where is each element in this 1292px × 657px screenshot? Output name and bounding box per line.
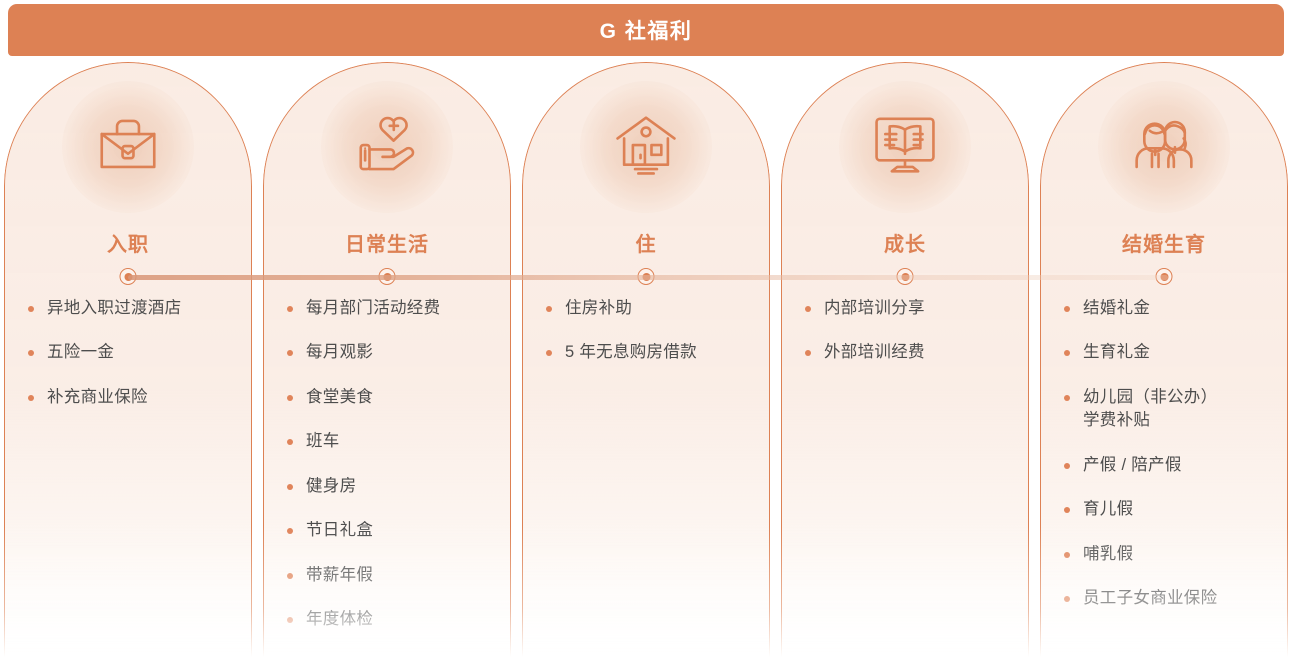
- page-title: G 社福利: [600, 15, 693, 45]
- benefit-card-housing[interactable]: 住 住房补助 5 年无息购房借款: [522, 62, 770, 657]
- benefit-list: 每月部门活动经费 每月观影 食堂美食 班车 健身房 节日礼盒 带薪年假 年度体检: [264, 297, 510, 652]
- list-item: 年度体检: [280, 608, 496, 631]
- benefit-list: 结婚礼金 生育礼金 幼儿园（非公办） 学费补贴 产假 / 陪产假 育儿假 哺乳假…: [1041, 297, 1287, 631]
- benefit-card-daily-life[interactable]: 日常生活 每月部门活动经费 每月观影 食堂美食 班车 健身房 节日礼盒 带薪年假…: [263, 62, 511, 657]
- list-item: 育儿假: [1057, 498, 1273, 521]
- couple-icon: [1126, 107, 1202, 183]
- list-item: 幼儿园（非公办） 学费补贴: [1057, 386, 1273, 433]
- list-item: 班车: [280, 430, 496, 453]
- benefit-card-growth[interactable]: 成长 内部培训分享 外部培训经费: [781, 62, 1029, 657]
- header-banner: G 社福利: [8, 4, 1284, 56]
- list-item: 生育礼金: [1057, 341, 1273, 364]
- list-item: 外部培训经费: [798, 341, 1014, 364]
- card-title: 日常生活: [264, 228, 510, 257]
- list-item: 五险一金: [21, 341, 237, 364]
- benefit-list: 内部培训分享 外部培训经费: [782, 297, 1028, 386]
- list-item: 住房补助: [539, 297, 755, 320]
- card-title: 入职: [5, 228, 251, 257]
- list-item: 健身房: [280, 475, 496, 498]
- list-item: 异地入职过渡酒店: [21, 297, 237, 320]
- benefit-card-row: 入职 异地入职过渡酒店 五险一金 补充商业保险: [0, 62, 1292, 657]
- benefit-card-onboarding[interactable]: 入职 异地入职过渡酒店 五险一金 补充商业保险: [4, 62, 252, 657]
- card-title: 住: [523, 228, 769, 257]
- list-item: 员工子女商业保险: [1057, 587, 1273, 610]
- list-item: 产假 / 陪产假: [1057, 454, 1273, 477]
- list-item: 节日礼盒: [280, 519, 496, 542]
- list-item: 每月观影: [280, 341, 496, 364]
- card-title: 结婚生育: [1041, 228, 1287, 257]
- list-item: 补充商业保险: [21, 386, 237, 409]
- list-item: 5 年无息购房借款: [539, 341, 755, 364]
- list-item: 食堂美食: [280, 386, 496, 409]
- card-title: 成长: [782, 228, 1028, 257]
- timeline-rail: [128, 275, 1168, 280]
- monitor-book-icon: [867, 107, 943, 183]
- list-item: 哺乳假: [1057, 543, 1273, 566]
- briefcase-icon: [90, 107, 166, 183]
- hand-heart-icon: [349, 107, 425, 183]
- list-item: 带薪年假: [280, 564, 496, 587]
- benefit-list: 住房补助 5 年无息购房借款: [523, 297, 769, 386]
- list-item: 内部培训分享: [798, 297, 1014, 320]
- benefit-list: 异地入职过渡酒店 五险一金 补充商业保险: [5, 297, 251, 430]
- infographic-root: G 社福利 入职 异地入职过渡酒店 五险一金 补充商业保险: [0, 0, 1292, 657]
- house-icon: [608, 107, 684, 183]
- benefit-card-marriage-parenting[interactable]: 结婚生育 结婚礼金 生育礼金 幼儿园（非公办） 学费补贴 产假 / 陪产假 育儿…: [1040, 62, 1288, 657]
- list-item: 每月部门活动经费: [280, 297, 496, 320]
- list-item: 结婚礼金: [1057, 297, 1273, 320]
